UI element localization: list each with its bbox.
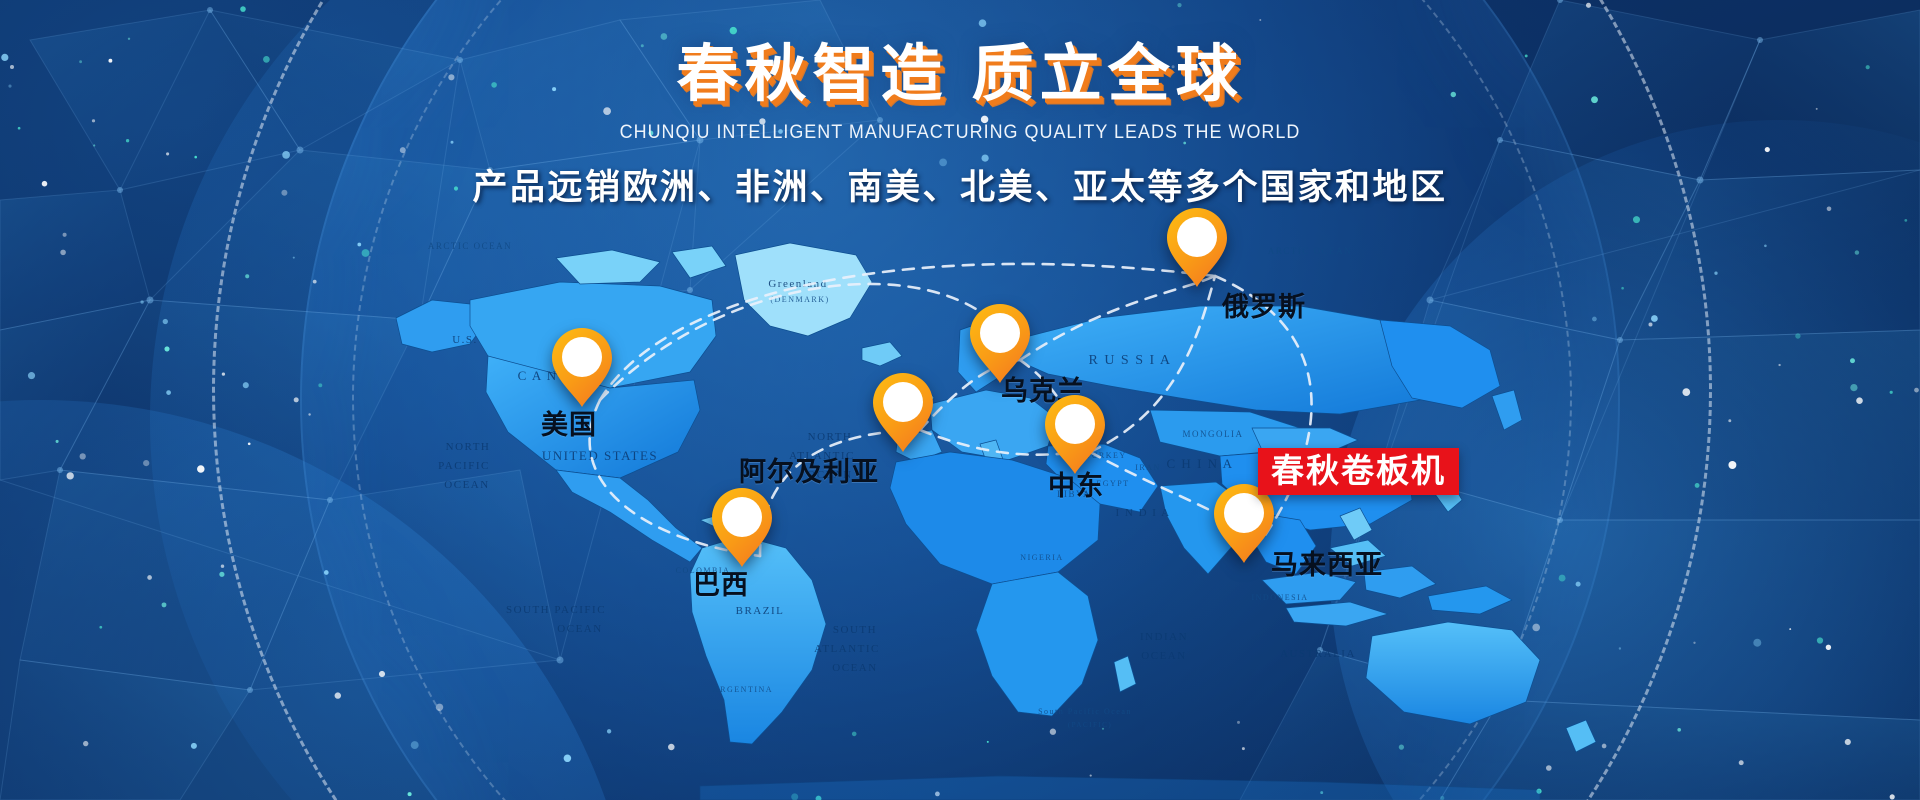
star-dot bbox=[979, 19, 987, 27]
star-dot bbox=[1914, 388, 1919, 393]
map-marker-label-malaysia: 马来西亚 bbox=[1271, 543, 1383, 582]
banner-stage: ARCTIC OCEANARCTIC OCEANNORTHPACIFICOCEA… bbox=[0, 0, 1920, 800]
star-dot bbox=[293, 257, 295, 259]
star-dot bbox=[1090, 775, 1092, 777]
map-place-label: UNITED STATES bbox=[542, 448, 658, 463]
map-place-label: BRAZIL bbox=[736, 605, 785, 617]
map-marker-mideast[interactable]: 中东 bbox=[1044, 394, 1106, 476]
star-dot bbox=[197, 465, 205, 473]
star-dot bbox=[163, 319, 168, 324]
location-pin-icon bbox=[711, 487, 773, 569]
star-dot bbox=[1855, 250, 1859, 254]
map-place-label: OCEAN bbox=[832, 662, 877, 674]
brand-badge-label: 春秋卷板机 bbox=[1271, 452, 1446, 489]
map-marker-brazil[interactable]: 巴西 bbox=[711, 487, 773, 569]
map-marker-label-usa: 美国 bbox=[541, 403, 597, 442]
star-dot bbox=[1050, 729, 1056, 735]
star-dot bbox=[1789, 628, 1791, 630]
star-dot bbox=[294, 397, 299, 402]
star-dot bbox=[80, 453, 86, 459]
star-dot bbox=[240, 6, 246, 12]
star-dot bbox=[1728, 461, 1736, 469]
location-pin-icon bbox=[1213, 483, 1275, 565]
subtitle-english: CHUNQIU INTELLIGENT MANUFACTURING QUALIT… bbox=[77, 121, 1843, 144]
star-dot bbox=[1764, 245, 1767, 248]
map-place-label: Greenland bbox=[768, 278, 827, 290]
star-dot bbox=[411, 741, 419, 749]
map-marker-malaysia[interactable]: 马来西亚 bbox=[1213, 483, 1275, 565]
star-dot bbox=[935, 792, 940, 797]
star-dot bbox=[1237, 721, 1240, 724]
map-place-label: ARCTIC OCEAN bbox=[428, 241, 512, 251]
map-marker-label-algeria: 阿尔及利亚 bbox=[739, 450, 879, 489]
star-dot bbox=[357, 243, 361, 247]
star-dot bbox=[1753, 639, 1761, 647]
star-dot bbox=[164, 346, 169, 351]
star-dot bbox=[1714, 272, 1717, 275]
map-marker-algeria[interactable]: 阿尔及利亚 bbox=[872, 372, 934, 454]
star-dot bbox=[1739, 760, 1744, 765]
star-dot bbox=[147, 575, 152, 580]
star-dot bbox=[1682, 388, 1690, 396]
map-marker-label-russia: 俄罗斯 bbox=[1222, 285, 1306, 324]
star-dot bbox=[1532, 624, 1540, 632]
star-dot bbox=[1242, 747, 1245, 750]
star-dot bbox=[1259, 19, 1261, 21]
star-dot bbox=[313, 280, 317, 284]
map-place-label: IRAN bbox=[1135, 463, 1161, 472]
star-dot bbox=[1546, 765, 1552, 771]
star-dot bbox=[1850, 358, 1855, 363]
star-dot bbox=[191, 743, 197, 749]
map-place-label: ATLANTIC bbox=[814, 643, 880, 655]
star-dot bbox=[1850, 384, 1857, 391]
star-dot bbox=[1602, 744, 1607, 749]
star-dot bbox=[1693, 642, 1695, 644]
star-dot bbox=[791, 793, 798, 800]
map-place-label: SOUTH bbox=[833, 624, 877, 636]
map-marker-russia[interactable]: 俄罗斯 bbox=[1166, 207, 1228, 289]
map-marker-usa[interactable]: 美国 bbox=[551, 327, 613, 409]
star-dot bbox=[335, 692, 341, 698]
star-dot bbox=[222, 372, 225, 375]
star-dot bbox=[852, 732, 857, 737]
star-dot bbox=[1320, 791, 1323, 794]
star-dot bbox=[1576, 582, 1581, 587]
map-place-label: ARGENTINA bbox=[713, 685, 773, 694]
location-pin-icon bbox=[1166, 207, 1228, 289]
star-dot bbox=[318, 383, 322, 387]
star-dot bbox=[408, 792, 412, 796]
star-dot bbox=[60, 250, 66, 256]
star-dot bbox=[730, 27, 737, 34]
star-dot bbox=[607, 729, 611, 733]
star-dot bbox=[1592, 317, 1597, 322]
banner-headings: 春秋智造 质立全球 CHUNQIU INTELLIGENT MANUFACTUR… bbox=[0, 42, 1920, 210]
map-place-label: South Pacific Ocean bbox=[1038, 707, 1132, 716]
star-dot bbox=[245, 274, 249, 278]
star-dot bbox=[1817, 637, 1823, 643]
star-dot bbox=[1677, 728, 1681, 732]
brand-badge[interactable]: 春秋卷板机 bbox=[1258, 448, 1459, 495]
star-dot bbox=[1621, 287, 1624, 290]
star-dot bbox=[1778, 364, 1780, 366]
star-dot bbox=[219, 572, 224, 577]
map-place-label: INDONESIA bbox=[1251, 593, 1308, 602]
map-place-label: NORTH bbox=[446, 441, 491, 453]
map-marker-ukraine[interactable]: 乌克兰 bbox=[969, 303, 1031, 385]
star-dot bbox=[1904, 219, 1907, 222]
star-dot bbox=[1845, 739, 1851, 745]
star-dot bbox=[1795, 333, 1800, 338]
star-dot bbox=[1651, 315, 1658, 322]
star-dot bbox=[162, 602, 167, 607]
star-dot bbox=[243, 382, 249, 388]
map-place-label: U.S. bbox=[452, 334, 478, 346]
star-dot bbox=[661, 33, 668, 40]
map-place-label: NIGERIA bbox=[1020, 553, 1063, 562]
star-dot bbox=[63, 233, 67, 237]
star-dot bbox=[248, 442, 251, 445]
star-dot bbox=[166, 390, 171, 395]
star-dot bbox=[1890, 391, 1893, 394]
location-pin-icon bbox=[551, 327, 613, 409]
star-dot bbox=[221, 564, 224, 567]
star-dot bbox=[128, 38, 130, 40]
star-dot bbox=[1177, 3, 1181, 7]
star-dot bbox=[1586, 3, 1591, 8]
star-dot bbox=[1619, 647, 1621, 649]
star-dot bbox=[1890, 794, 1895, 799]
map-place-label: ARCTIC OCEAN bbox=[1268, 246, 1352, 256]
subtitle-chinese: 产品远销欧洲、非洲、南美、北美、亚太等多个国家和地区 bbox=[0, 159, 1920, 210]
map-place-label: SOUTH PACIFIC bbox=[506, 604, 606, 616]
location-pin-icon bbox=[872, 372, 934, 454]
star-dot bbox=[1399, 744, 1404, 749]
map-place-label: OCEAN bbox=[557, 623, 602, 635]
map-place-label: MONGOLIA bbox=[1183, 429, 1244, 439]
star-dot bbox=[324, 570, 329, 575]
star-dot bbox=[1826, 645, 1831, 650]
star-dot bbox=[1633, 216, 1640, 223]
star-dot bbox=[668, 744, 675, 751]
star-dot bbox=[1559, 575, 1566, 582]
map-place-label: R U S S I A bbox=[1088, 353, 1171, 368]
star-dot bbox=[436, 704, 443, 711]
map-place-label: OCEAN bbox=[1141, 650, 1186, 662]
star-dot bbox=[67, 472, 74, 479]
star-dot bbox=[816, 796, 822, 800]
star-dot bbox=[379, 671, 385, 677]
star-dot bbox=[143, 460, 149, 466]
star-dot bbox=[1102, 728, 1104, 730]
globe-glow-bottom-left bbox=[0, 400, 640, 800]
map-marker-label-mideast: 中东 bbox=[1048, 464, 1104, 503]
star-dot bbox=[987, 741, 989, 743]
star-dot bbox=[1728, 419, 1731, 422]
star-dot bbox=[308, 413, 310, 415]
star-dot bbox=[1695, 483, 1700, 488]
map-marker-label-brazil: 巴西 bbox=[693, 563, 749, 602]
star-dot bbox=[83, 741, 88, 746]
page-title: 春秋智造 质立全球 bbox=[0, 42, 1920, 109]
map-place-label: NORTH bbox=[808, 431, 853, 443]
map-place-label: (PACIFIC) bbox=[1068, 721, 1112, 729]
star-dot bbox=[1536, 789, 1541, 794]
star-dot bbox=[28, 372, 35, 379]
star-dot bbox=[564, 755, 572, 763]
star-dot bbox=[1649, 323, 1653, 327]
star-dot bbox=[1856, 397, 1863, 404]
map-place-label: AUSTRALIA bbox=[1280, 648, 1356, 660]
map-place-label: INDIAN bbox=[1140, 631, 1188, 643]
star-dot bbox=[1440, 796, 1444, 800]
map-place-label: PACIFIC bbox=[438, 460, 490, 472]
map-place-label: C H I N A bbox=[1167, 456, 1234, 471]
star-dot bbox=[99, 626, 102, 629]
map-place-label: I N D I A bbox=[1115, 507, 1170, 519]
map-place-label: OCEAN bbox=[444, 479, 489, 491]
star-dot bbox=[362, 249, 370, 257]
star-dot bbox=[56, 440, 59, 443]
star-dot bbox=[140, 300, 143, 303]
map-place-label: (DENMARK) bbox=[770, 295, 829, 304]
